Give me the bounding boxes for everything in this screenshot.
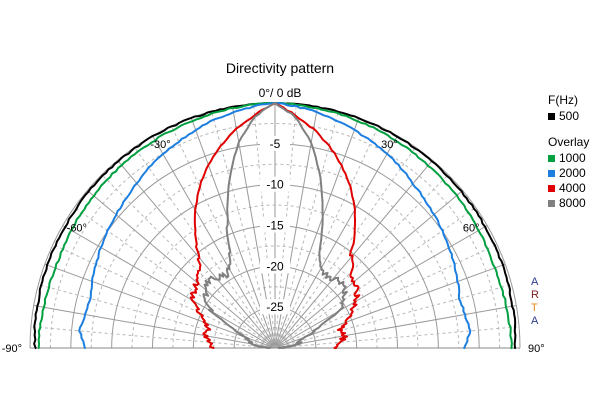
legend-label: 2000: [559, 167, 586, 179]
legend-label: 4000: [559, 182, 586, 194]
grid-spoke-minor: [171, 126, 275, 348]
legend-swatch-icon: [548, 200, 555, 207]
legend-item-1000[interactable]: 1000: [548, 152, 600, 164]
legend-item-4000[interactable]: 4000: [548, 182, 600, 194]
arta-letter-a2: A: [531, 315, 539, 328]
legend-primary-items: 500: [548, 110, 600, 122]
polar-plot: -5-10-15-20-25-90°-60°-30°30°60°90°: [0, 0, 600, 400]
radial-tick-label: -20: [266, 259, 284, 273]
legend-item-500[interactable]: 500: [548, 110, 600, 122]
angle-tick-label-neg90: -90°: [2, 343, 22, 355]
angle-tick-label-60: 60°: [463, 223, 480, 235]
grid-spoke-minor: [275, 244, 497, 348]
arta-letter-a1: A: [531, 276, 539, 289]
legend-swatch-icon: [548, 185, 555, 192]
radial-tick-label: -25: [266, 300, 284, 314]
radial-tick-label: -10: [266, 178, 284, 192]
legend-swatch-icon: [548, 170, 555, 177]
legend-label: 8000: [559, 197, 586, 209]
legend-item-2000[interactable]: 2000: [548, 167, 600, 179]
radial-tick-label: -15: [266, 219, 284, 233]
legend-swatch-icon: [548, 155, 555, 162]
legend-item-8000[interactable]: 8000: [548, 197, 600, 209]
arta-letter-r: R: [531, 289, 539, 302]
legend-swatch-icon: [548, 113, 555, 120]
legend-label: 500: [559, 110, 579, 122]
directivity-chart-panel: Directivity pattern 0°/ 0 dB -5-10-15-20…: [0, 0, 600, 400]
radial-tick-label: -5: [270, 137, 281, 151]
angle-tick-label-neg60: -60°: [67, 223, 87, 235]
angle-tick-label-neg30: -30°: [150, 139, 170, 151]
baseline-mask: [0, 349, 600, 400]
arta-letter-t: T: [531, 302, 539, 315]
angle-tick-label-90: 90°: [528, 343, 545, 355]
arta-watermark: A R T A: [531, 276, 539, 328]
legend-group-title-primary: F(Hz): [548, 94, 600, 106]
legend-group-title-overlay: Overlay: [548, 136, 600, 148]
legend-overlay-items: 1000200040008000: [548, 152, 600, 209]
angle-tick-label-30: 30°: [381, 139, 398, 151]
legend: F(Hz) 500 Overlay 1000200040008000: [548, 94, 600, 212]
legend-label: 1000: [559, 152, 586, 164]
grid-spoke-minor: [275, 285, 512, 348]
grid-spoke-minor: [38, 285, 275, 348]
